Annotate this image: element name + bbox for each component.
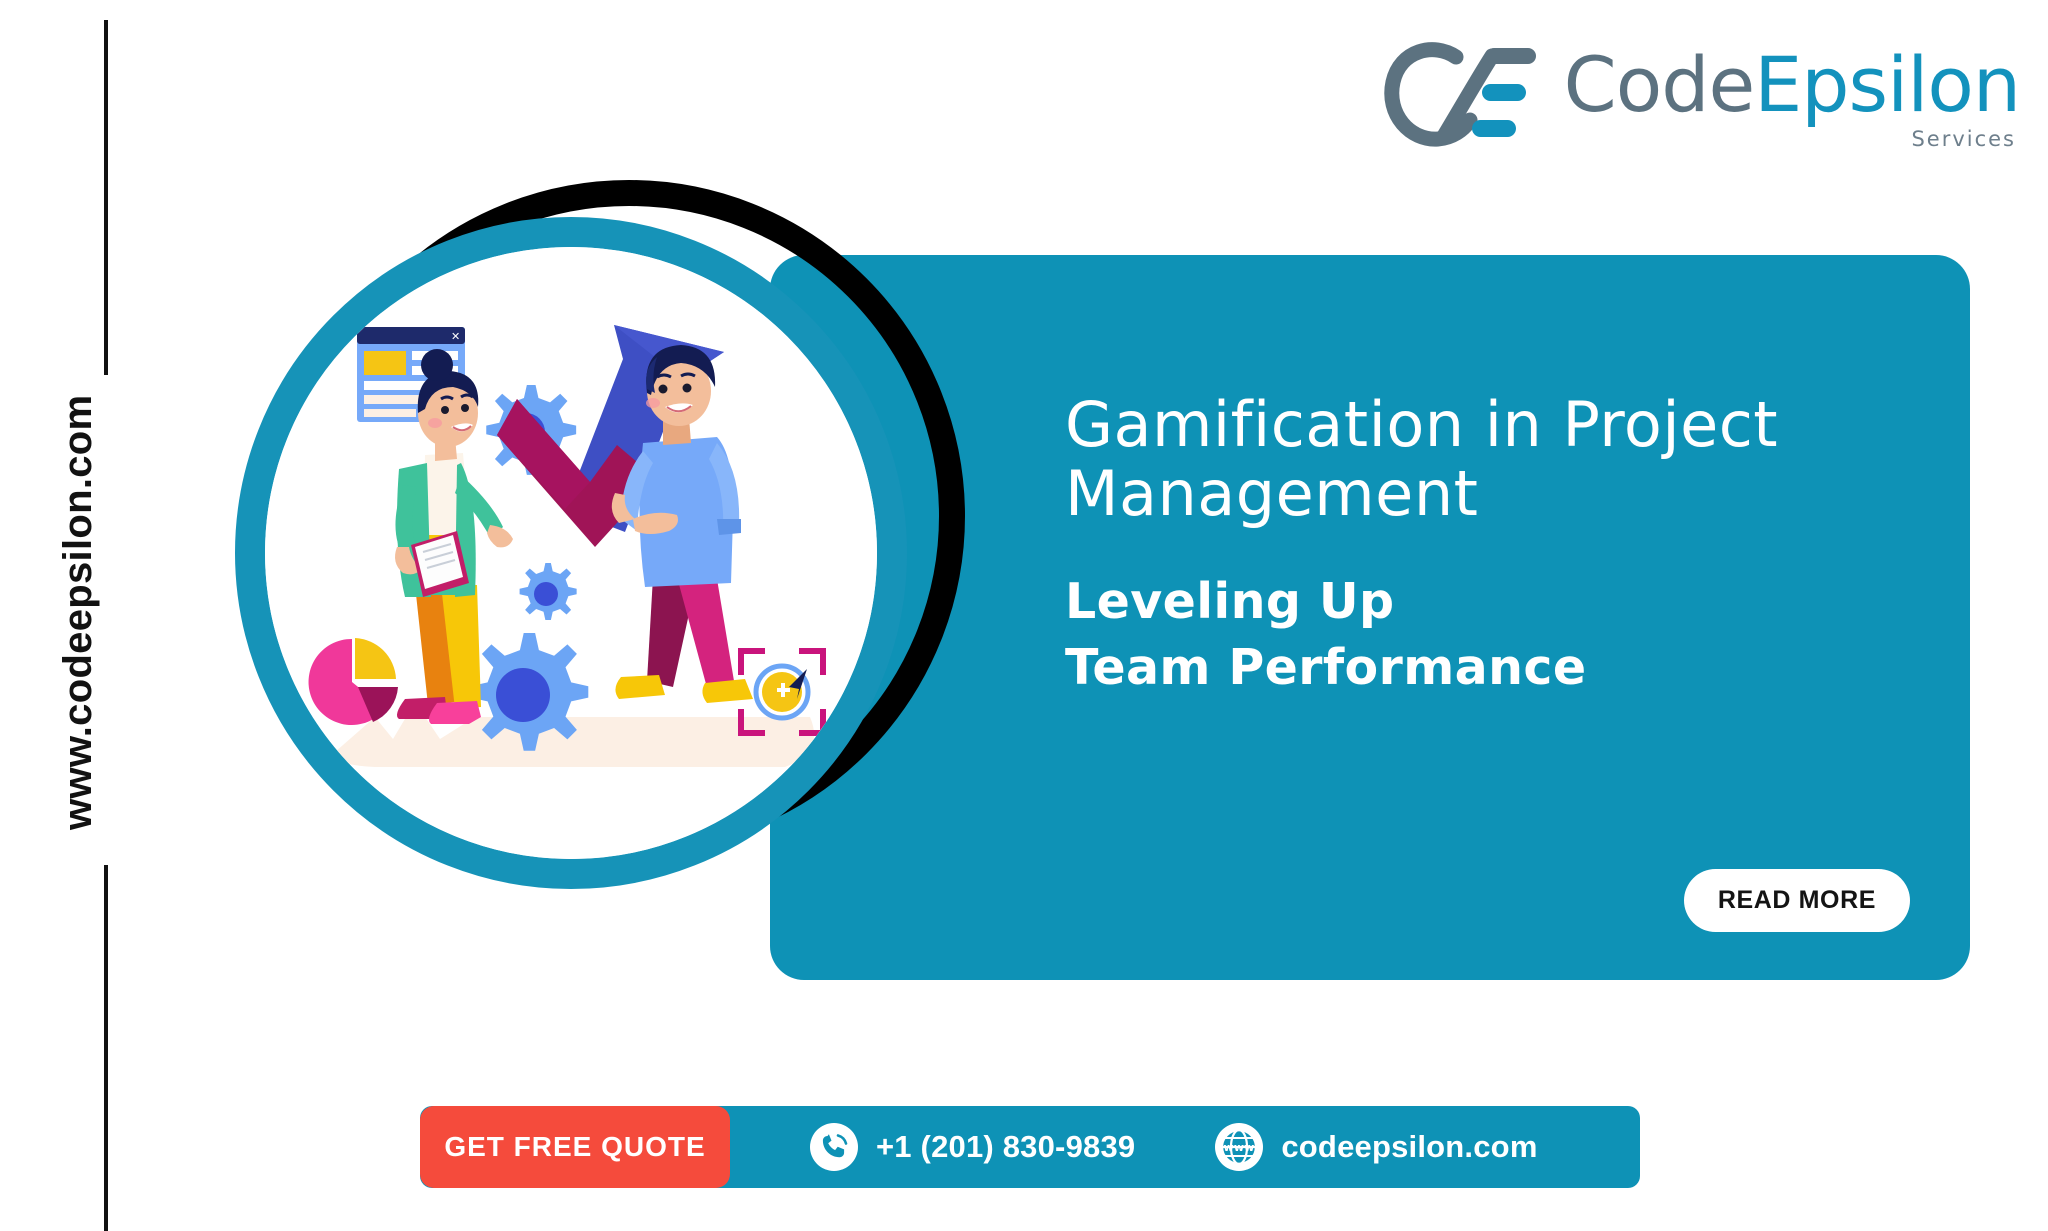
website-url: codeepsilon.com [1281,1129,1537,1165]
phone-contact[interactable]: +1 (201) 830-9839 [810,1123,1135,1171]
read-more-button[interactable]: READ MORE [1684,869,1910,932]
gear-icon [520,563,577,620]
left-rail [104,10,108,1221]
logo-tagline: Services [1911,129,2016,150]
team-growth-chart-illustration: ✕ [265,247,877,859]
rail-line-top [104,20,108,375]
get-free-quote-button[interactable]: GET FREE QUOTE [420,1106,730,1188]
marketing-banner: www.codeepsilon.com CodeEpsilon Services… [0,0,2048,1231]
rail-line-bottom [104,865,108,1231]
headline-block: Gamification in Project Management Level… [1065,390,1895,701]
brand-logo: CodeEpsilon Services [1382,40,2020,150]
page-subtitle: Leveling Up Team Performance [1065,569,1895,701]
page-title: Gamification in Project Management [1065,390,1895,529]
vertical-website-url: www.codeepsilon.com [58,390,62,830]
globe-www-icon: www [1215,1123,1263,1171]
contact-bar: GET FREE QUOTE +1 (201) 830-9839 www cod… [420,1106,1640,1188]
illustration-badge: ✕ [235,195,975,935]
logo-wordmark: CodeEpsilon [1564,47,2020,123]
pie-chart-icon [309,638,398,725]
svg-text:✕: ✕ [451,330,460,343]
subtitle-line-1: Leveling Up [1065,569,1895,635]
phone-icon [810,1123,858,1171]
logo-word-code: Code [1564,40,1755,129]
website-contact[interactable]: www codeepsilon.com [1215,1123,1537,1171]
svg-text:www: www [1224,1141,1255,1154]
logo-text: CodeEpsilon Services [1564,47,2020,150]
ce-monogram-icon [1382,40,1542,150]
subtitle-line-2: Team Performance [1065,635,1895,701]
phone-number: +1 (201) 830-9839 [876,1129,1135,1165]
logo-word-epsilon: Epsilon [1754,40,2020,129]
gear-icon [471,633,589,751]
illustration-svg: ✕ [265,247,877,859]
